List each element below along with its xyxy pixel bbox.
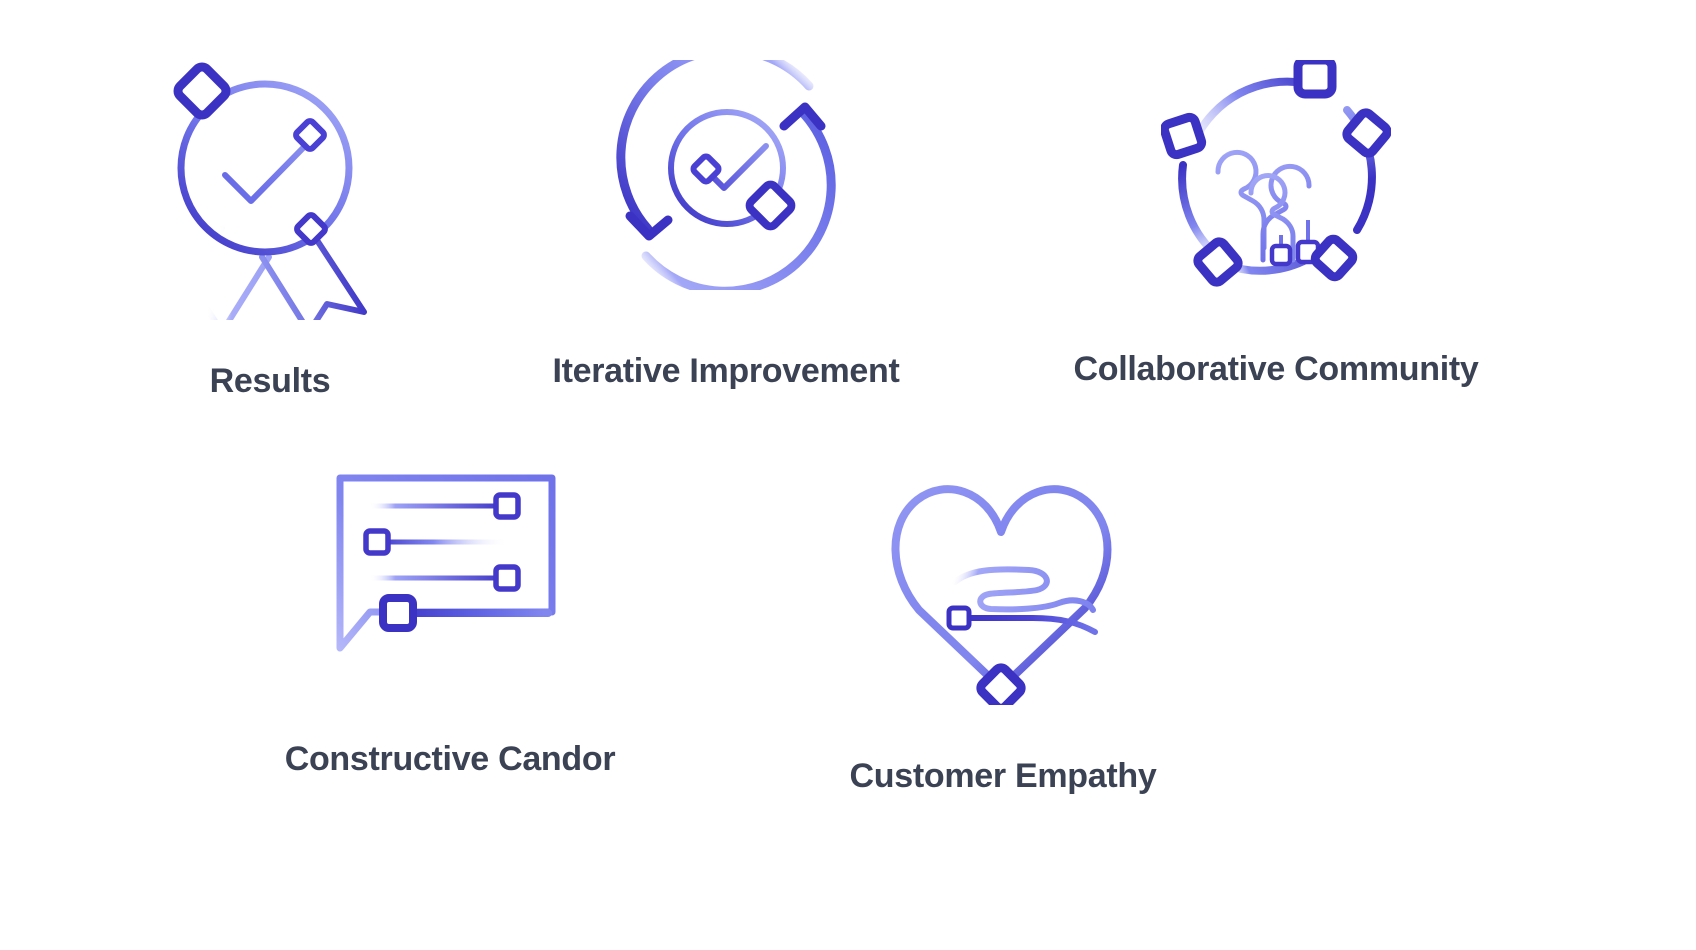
award-ribbon-checkmark-icon [159,60,389,320]
value-label-results: Results [210,362,331,401]
value-card-iterative: Iterative Improvement [516,60,936,391]
value-card-empathy: Customer Empathy [793,470,1213,796]
circular-arrows-refresh-checkmark-icon [606,60,846,290]
value-label-community: Collaborative Community [1074,350,1479,389]
speech-bubble-sliders-icon [330,470,570,670]
value-card-candor: Constructive Candor [240,470,660,779]
people-network-circle-icon [1161,60,1391,300]
value-card-results: Results [60,60,480,401]
values-board: Results [0,0,1696,950]
value-label-iterative: Iterative Improvement [552,352,899,391]
heart-helping-hand-icon [883,470,1123,705]
value-label-empathy: Customer Empathy [850,757,1157,796]
value-card-community: Collaborative Community [1066,60,1486,389]
value-label-candor: Constructive Candor [285,740,616,779]
